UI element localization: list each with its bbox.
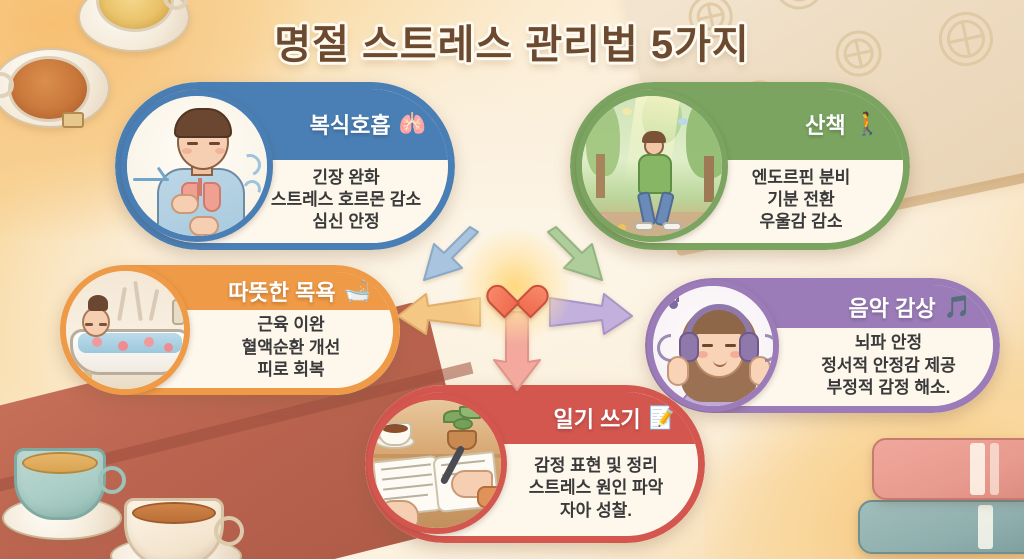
bathtub-icon: 🛁 [344,280,371,302]
card-breathing-title: 복식호흡 [310,108,391,140]
card-warm-bath-line-2: 혈액순환 개선 [242,337,341,358]
music-illustration [647,280,779,412]
card-journaling[interactable]: 일기 쓰기 📝 감정 표현 및 정리 스트레스 원인 파악 자아 성찰. [365,385,705,543]
card-breathing-line-1: 긴장 완화 [312,167,379,188]
page-title: 명절 스트레스 관리법 5가지 [0,12,1024,70]
card-walking-title: 산책 [805,108,845,140]
card-journaling-line-2: 스트레스 원인 파악 [529,477,664,498]
memo-icon: 📝 [649,407,676,429]
card-breathing-line-2: 스트레스 호르몬 감소 [271,189,421,210]
infographic-canvas: 명절 스트레스 관리법 5가지 복식호흡 � [0,0,1024,559]
card-music[interactable]: 음악 감상 🎵 뇌파 안정 정서적 안정감 제공 부정적 감정 해소. [645,278,1000,413]
card-walking-line-3: 우울감 감소 [760,211,843,232]
card-walking-line-1: 엔도르핀 분비 [752,167,851,188]
card-breathing[interactable]: 복식호흡 🫁 긴장 완화 스트레스 호르몬 감소 심신 안정 [115,82,455,250]
card-journaling-title: 일기 쓰기 [554,402,641,434]
heart-icon [498,271,532,302]
bath-illustration [60,265,190,395]
walking-person-icon: 🚶 [854,113,881,135]
card-music-line-2: 정서적 안정감 제공 [821,355,956,376]
card-warm-bath[interactable]: 따뜻한 목욕 🛁 근육 이완 혈액순환 개선 피로 회복 [60,265,400,395]
card-music-title: 음악 감상 [849,291,936,323]
card-warm-bath-line-3: 피로 회복 [257,359,324,380]
journaling-illustration [367,394,507,534]
card-warm-bath-line-1: 근육 이완 [257,314,324,335]
card-music-line-3: 부정적 감정 해소. [827,377,951,398]
card-walking[interactable]: 산책 🚶 엔도르핀 분비 기분 전환 우울감 감소 [570,82,910,250]
card-walking-line-2: 기분 전환 [767,189,834,210]
walking-illustration [576,90,728,242]
card-music-line-1: 뇌파 안정 [855,332,922,353]
lungs-icon: 🫁 [399,113,426,135]
card-journaling-line-3: 자아 성찰. [560,500,632,521]
card-breathing-line-3: 심신 안정 [312,211,379,232]
card-journaling-line-1: 감정 표현 및 정리 [534,455,658,476]
music-note-icon: 🎵 [944,296,971,318]
breathing-illustration [121,90,273,242]
center-heart [487,258,543,314]
card-warm-bath-title: 따뜻한 목욕 [228,275,335,307]
